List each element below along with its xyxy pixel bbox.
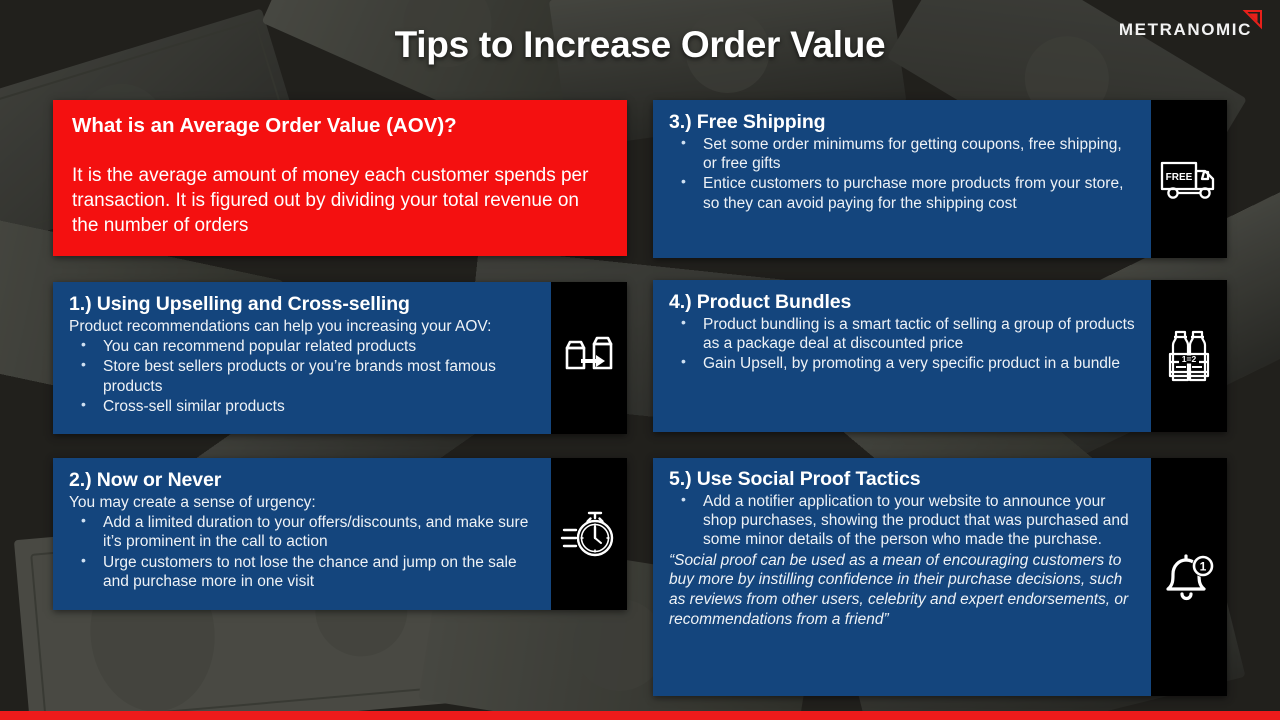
list-item: Set some order minimums for getting coup… xyxy=(669,135,1135,173)
tip-card-title: 2.) Now or Never xyxy=(69,469,535,492)
tip-card-lead: You may create a sense of urgency: xyxy=(69,493,535,512)
tip-card-bullets: Add a notifier application to your websi… xyxy=(669,492,1135,550)
aov-text: It is the average amount of money each c… xyxy=(72,163,608,239)
truck-free-label: FREE xyxy=(1166,172,1193,183)
list-item: Gain Upsell, by promoting a very specifi… xyxy=(669,354,1135,373)
tip-card-product-bundles: 4.) Product Bundles Product bundling is … xyxy=(653,280,1227,432)
tip-card-upselling: 1.) Using Upselling and Cross-selling Pr… xyxy=(53,282,627,434)
tip-card-title: 5.) Use Social Proof Tactics xyxy=(669,468,1135,491)
list-item: You can recommend popular related produc… xyxy=(69,337,535,356)
header: Tips to Increase Order Value METRANOMIC xyxy=(0,0,1280,96)
tip-card-body: 1.) Using Upselling and Cross-selling Pr… xyxy=(53,282,551,434)
list-item: Add a notifier application to your websi… xyxy=(669,492,1135,550)
bottle-bundle-icon: 1=2 xyxy=(1151,280,1227,432)
list-item: Urge customers to not lose the chance an… xyxy=(69,553,535,591)
tip-card-bullets: Set some order minimums for getting coup… xyxy=(669,135,1135,213)
tip-card-body: 5.) Use Social Proof Tactics Add a notif… xyxy=(653,458,1151,696)
stopwatch-icon xyxy=(551,458,627,610)
free-delivery-truck-icon: FREE xyxy=(1151,100,1227,258)
tip-card-bullets: You can recommend popular related produc… xyxy=(69,337,535,416)
tip-card-free-shipping: 3.) Free Shipping Set some order minimum… xyxy=(653,100,1227,258)
list-item: Store best sellers products or you’re br… xyxy=(69,357,535,395)
boxes-transfer-icon xyxy=(551,282,627,434)
tip-card-body: 4.) Product Bundles Product bundling is … xyxy=(653,280,1151,432)
bundle-ratio-label: 1=2 xyxy=(1182,354,1197,364)
bell-badge-count: 1 xyxy=(1200,560,1207,574)
tip-card-title: 1.) Using Upselling and Cross-selling xyxy=(69,293,535,316)
tip-card-social-proof: 5.) Use Social Proof Tactics Add a notif… xyxy=(653,458,1227,696)
bell-notification-icon: 1 xyxy=(1151,458,1227,696)
brand-logo: METRANOMIC xyxy=(1119,20,1264,52)
tip-card-now-or-never: 2.) Now or Never You may create a sense … xyxy=(53,458,627,610)
tip-card-bullets: Product bundling is a smart tactic of se… xyxy=(669,315,1135,374)
list-item: Cross-sell similar products xyxy=(69,397,535,416)
aov-definition-card: What is an Average Order Value (AOV)? It… xyxy=(53,100,627,256)
tip-card-body: 3.) Free Shipping Set some order minimum… xyxy=(653,100,1151,258)
bottom-accent-bar xyxy=(0,711,1280,720)
list-item: Product bundling is a smart tactic of se… xyxy=(669,315,1135,353)
aov-title: What is an Average Order Value (AOV)? xyxy=(72,114,608,139)
brand-logo-text: METRANOMIC xyxy=(1119,20,1252,40)
triangle-mark-icon xyxy=(1242,9,1264,31)
tip-card-title: 4.) Product Bundles xyxy=(669,291,1135,314)
page-title: Tips to Increase Order Value xyxy=(0,24,1280,66)
social-proof-quote: “Social proof can be used as a mean of e… xyxy=(669,551,1135,630)
list-item: Add a limited duration to your offers/di… xyxy=(69,513,535,551)
tip-card-body: 2.) Now or Never You may create a sense … xyxy=(53,458,551,610)
tip-card-bullets: Add a limited duration to your offers/di… xyxy=(69,513,535,591)
tip-card-title: 3.) Free Shipping xyxy=(669,111,1135,134)
list-item: Entice customers to purchase more produc… xyxy=(669,174,1135,212)
tip-card-lead: Product recommendations can help you inc… xyxy=(69,317,535,336)
